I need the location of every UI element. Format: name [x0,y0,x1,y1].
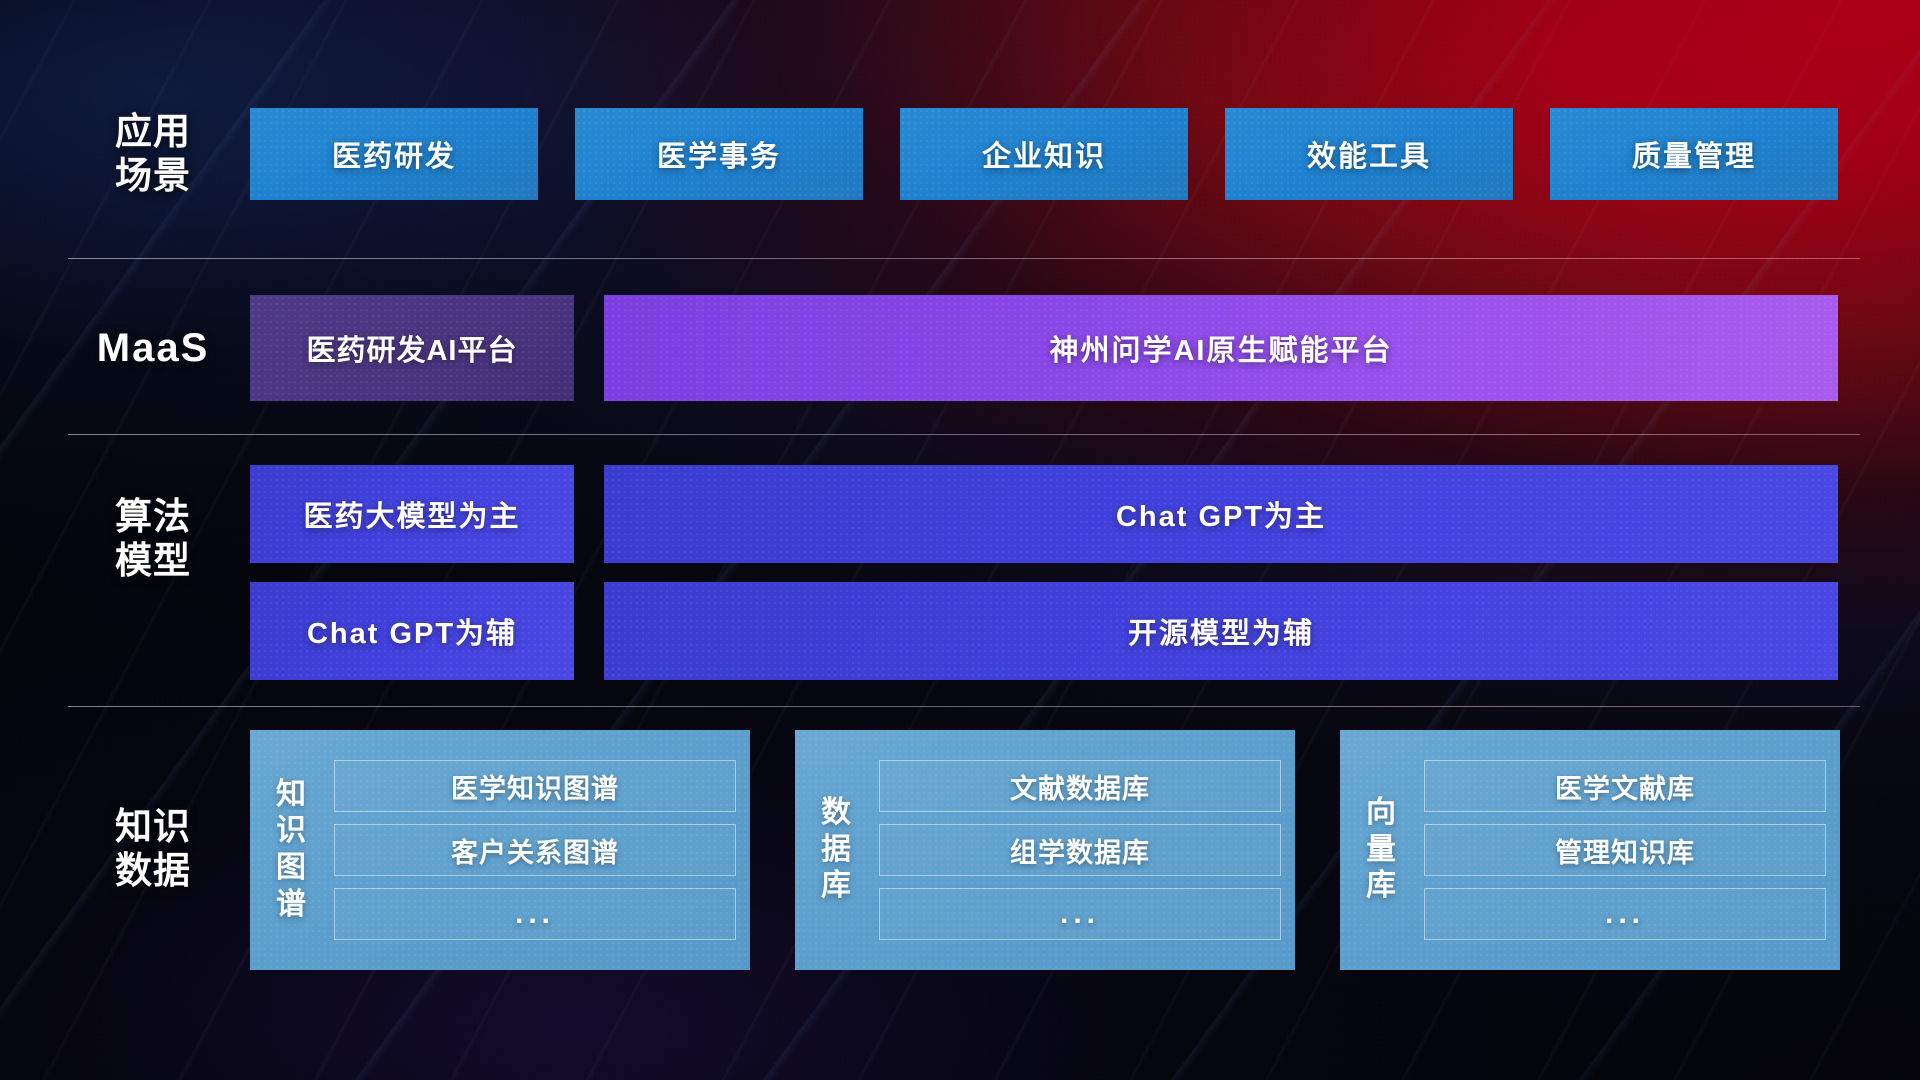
row-label-algorithm: 算法 模型 [78,495,228,582]
row-label-application: 应用 场景 [78,110,228,197]
knowledge-group-items: 医学文献库 管理知识库 ... [1424,760,1826,940]
algo-card-label: Chat GPT为主 [1116,493,1326,535]
knowledge-item[interactable]: 客户关系图谱 [334,824,736,876]
algo-card-label: 医药大模型为主 [303,493,520,535]
knowledge-group-items: 医学知识图谱 客户关系图谱 ... [334,760,736,940]
algo-card-pharma-llm-primary[interactable]: 医药大模型为主 [250,465,574,563]
knowledge-item[interactable]: 文献数据库 [879,760,1281,812]
knowledge-item[interactable]: 管理知识库 [1424,824,1826,876]
divider-maas-algorithm [68,434,1860,435]
knowledge-item-more[interactable]: ... [334,888,736,940]
app-card-quality-management[interactable]: 质量管理 [1550,108,1838,200]
knowledge-group-title: 向 量 库 [1350,795,1412,905]
knowledge-group-vector-store[interactable]: 向 量 库 医学文献库 管理知识库 ... [1340,730,1840,970]
maas-card-label: 医药研发AI平台 [306,327,517,369]
knowledge-item[interactable]: 医学知识图谱 [334,760,736,812]
app-card-label: 医学事务 [657,133,781,175]
knowledge-item-more[interactable]: ... [1424,888,1826,940]
app-card-label: 质量管理 [1632,133,1756,175]
app-card-medical-affairs[interactable]: 医学事务 [575,108,863,200]
architecture-diagram: 应用 场景 医药研发 医学事务 企业知识 效能工具 质量管理 MaaS 医药研发… [0,0,1920,1080]
knowledge-group-title: 数 据 库 [805,795,867,905]
app-card-label: 医药研发 [332,133,456,175]
algo-card-label: 开源模型为辅 [1128,610,1314,652]
knowledge-group-knowledge-graph[interactable]: 知 识 图 谱 医学知识图谱 客户关系图谱 ... [250,730,750,970]
app-card-drug-rd[interactable]: 医药研发 [250,108,538,200]
row-label-knowledge: 知识 数据 [78,805,228,892]
knowledge-group-items: 文献数据库 组学数据库 ... [879,760,1281,940]
knowledge-item[interactable]: 组学数据库 [879,824,1281,876]
knowledge-item-more[interactable]: ... [879,888,1281,940]
app-card-efficiency-tools[interactable]: 效能工具 [1225,108,1513,200]
knowledge-group-title: 知 识 图 谱 [260,777,322,923]
algo-card-chatgpt-secondary[interactable]: Chat GPT为辅 [250,582,574,680]
app-card-enterprise-knowledge[interactable]: 企业知识 [900,108,1188,200]
divider-algorithm-knowledge [68,706,1860,707]
knowledge-group-database[interactable]: 数 据 库 文献数据库 组学数据库 ... [795,730,1295,970]
app-card-label: 企业知识 [982,133,1106,175]
row-label-maas: MaaS [78,325,228,372]
app-card-label: 效能工具 [1307,133,1431,175]
algo-card-opensource-secondary[interactable]: 开源模型为辅 [604,582,1838,680]
divider-application-maas [68,258,1860,259]
maas-card-shenzhou-wenxue-platform[interactable]: 神州问学AI原生赋能平台 [604,295,1838,401]
algo-card-label: Chat GPT为辅 [307,610,517,652]
knowledge-item[interactable]: 医学文献库 [1424,760,1826,812]
maas-card-label: 神州问学AI原生赋能平台 [1049,327,1392,369]
algo-card-chatgpt-primary[interactable]: Chat GPT为主 [604,465,1838,563]
maas-card-drug-rd-ai-platform[interactable]: 医药研发AI平台 [250,295,574,401]
